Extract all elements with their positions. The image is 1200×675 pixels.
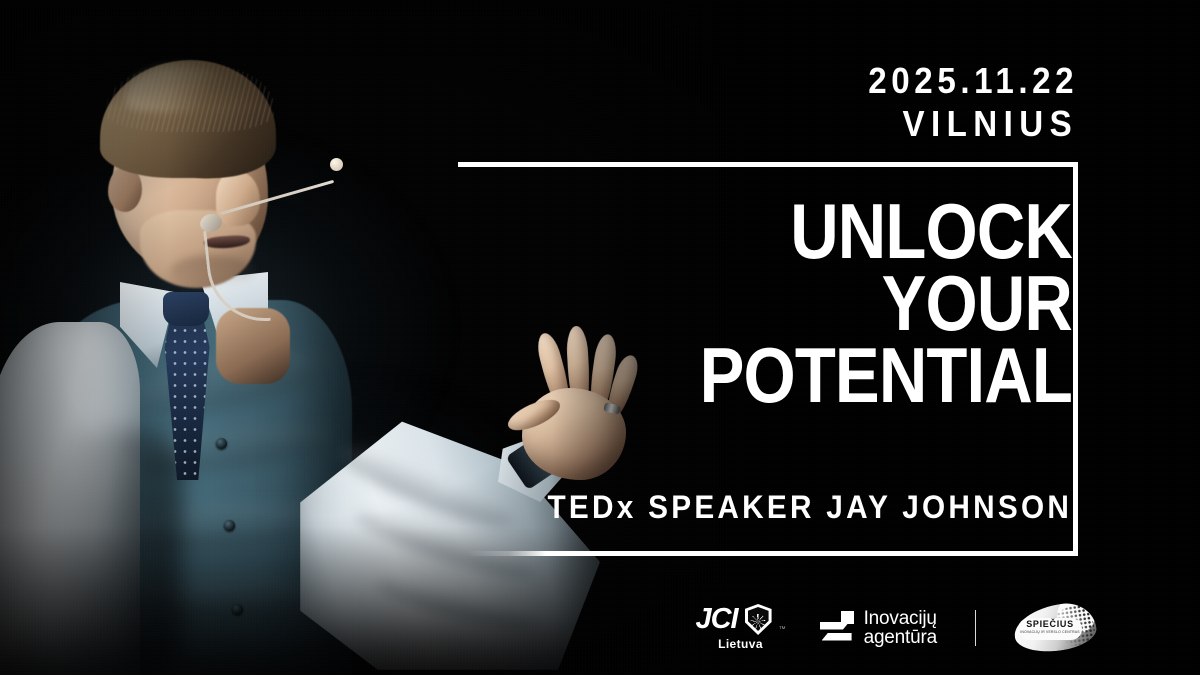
inovaciju-line-2: agentūra [864,628,937,647]
bars-square-icon [820,611,854,645]
necktie-knot [163,292,209,326]
nose [216,172,260,226]
shield-icon [745,604,772,635]
jci-subtitle: Lietuva [718,637,763,651]
sponsor-bar: JCI ™ Lietuva Inovacijų agentūra [695,604,1096,651]
inovaciju-line-1: Inovacijų [864,609,937,628]
headline-line-3: POTENTIAL [700,340,1072,412]
sponsor-logo-inovaciju-agentura[interactable]: Inovacijų agentūra [820,609,937,647]
waistcoat-button [232,604,243,615]
sponsor-logo-spiecius[interactable]: SPIEČIUS INOVACIJŲ IR VERSLO CENTRAS [1014,605,1096,651]
headline-line-2: YOUR [700,268,1072,340]
jci-wordmark: JCI [695,605,737,634]
waistcoat-button [224,520,235,531]
waistcoat-button [216,438,227,449]
event-city: VILNIUS [868,104,1078,144]
spiecius-wordmark: SPIEČIUS [1018,620,1082,629]
shirt-shadow [62,430,182,675]
headline: UNLOCK YOUR POTENTIAL [639,196,1072,411]
trademark-symbol: ™ [779,626,786,633]
speaker-figure [0,0,700,675]
sponsor-divider [975,610,976,646]
sponsor-logo-jci[interactable]: JCI ™ Lietuva [695,604,785,651]
event-poster: 2025.11.22 VILNIUS UNLOCK YOUR POTENTIAL… [0,0,1200,675]
speaker-credit: TEDx SPEAKER JAY JOHNSON [547,489,1072,526]
spiecius-subtitle: INOVACIJŲ IR VERSLO CENTRAS [1018,630,1082,635]
event-meta: 2025.11.22 VILNIUS [850,62,1078,144]
frame-top-line [458,162,1078,167]
microphone-capsule-icon [330,158,343,171]
speaker-head [96,60,286,292]
frame-bottom-line [466,551,1078,556]
headline-line-1: UNLOCK [700,196,1072,268]
frame-right-line [1073,162,1078,556]
event-date: 2025.11.22 [868,62,1078,100]
open-hand [500,330,660,480]
